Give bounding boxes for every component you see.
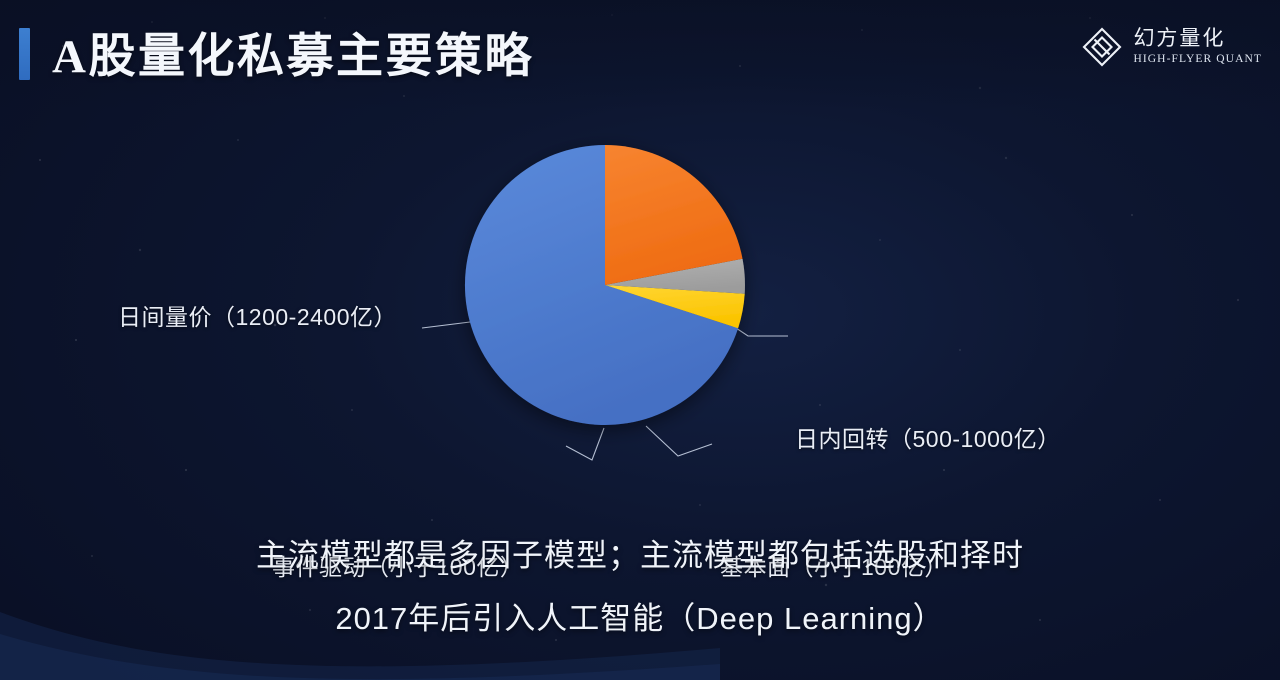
footer-line-2: 2017年后引入人工智能（Deep Learning） (0, 593, 1280, 638)
title-accent-bar (19, 28, 30, 80)
brand-name-en: HIGH-FLYER QUANT (1133, 54, 1262, 66)
pie-label-daytime: 日间量价（1200-2400亿） (118, 298, 397, 332)
pie-label-intraday: 日内回转（500-1000亿） (795, 420, 1061, 454)
brand-text: 幻方量化 HIGH-FLYER QUANT (1133, 28, 1262, 66)
footer-line-1: 主流模型都是多因子模型；主流模型都包括选股和择时 (0, 530, 1280, 575)
diamond-rhombus-icon (1081, 26, 1123, 68)
pie-slices (465, 145, 745, 425)
brand-logo: 幻方量化 HIGH-FLYER QUANT (1081, 26, 1262, 68)
page-title: A股量化私募主要策略 (52, 17, 534, 86)
pie-chart-area: 日间量价（1200-2400亿） 日内回转（500-1000亿） 事件驱动（小于… (0, 108, 1280, 508)
slide-header: A股量化私募主要策略 幻方量化 HIGH-FLYER QUANT (0, 0, 1280, 108)
brand-name-cn: 幻方量化 (1133, 28, 1262, 49)
slide-footer: 主流模型都是多因子模型；主流模型都包括选股和择时 2017年后引入人工智能（De… (0, 530, 1280, 638)
slide-canvas: A股量化私募主要策略 幻方量化 HIGH-FLYER QUANT (0, 0, 1280, 680)
